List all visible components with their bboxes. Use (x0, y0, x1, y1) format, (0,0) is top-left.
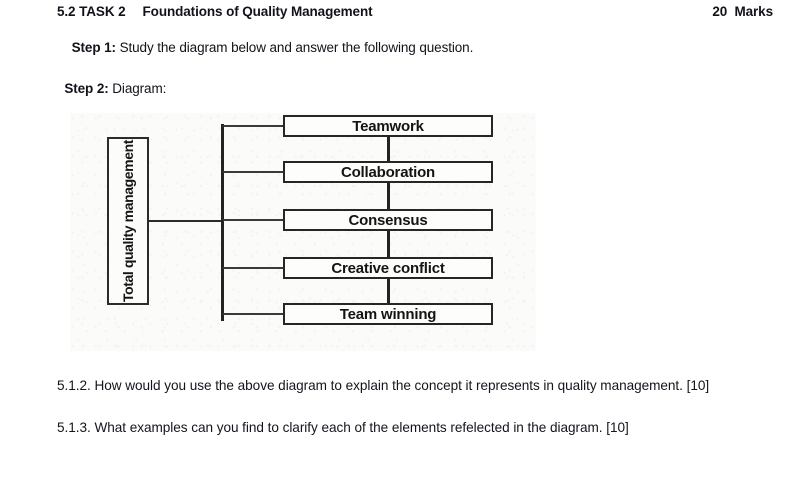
diagram-vlink-2-3 (387, 183, 390, 209)
diagram-node-label: Consensus (348, 213, 427, 228)
task-title: Foundations of Quality Management (143, 3, 373, 20)
step1-text: Study the diagram below and answer the f… (116, 40, 473, 55)
diagram-branch-2 (223, 171, 285, 173)
step1-label: Step 1: (72, 40, 116, 55)
question-5-1-2: 5.1.2. How would you use the above diagr… (57, 371, 773, 400)
diagram-node-label: Team winning (340, 307, 437, 322)
step2-label: Step 2: (64, 81, 108, 96)
diagram-node-team-winning: Team winning (283, 303, 493, 325)
diagram-spine (221, 124, 224, 321)
diagram-vlink-1-2 (387, 137, 390, 161)
diagram-branch-3 (223, 219, 285, 221)
diagram-node-collaboration: Collaboration (283, 161, 493, 183)
diagram-node-teamwork: Teamwork (283, 115, 493, 137)
diagram-image: Total quality management Teamwork Collab… (70, 113, 536, 351)
diagram-root-label: Total quality management (120, 140, 136, 302)
diagram-node-label: Teamwork (352, 119, 423, 134)
diagram-node-label: Creative conflict (331, 261, 444, 276)
step2-line: Step 2: Diagram: (57, 66, 166, 96)
task-heading-row: 5.2 TASK 2 Foundations of Quality Manage… (57, 3, 773, 20)
diagram-branch-4 (223, 267, 285, 269)
diagram-vlink-3-4 (387, 231, 390, 257)
task-marks: 20 Marks (712, 3, 773, 20)
diagram-branch-1 (223, 125, 285, 127)
diagram-root-box: Total quality management (107, 137, 149, 305)
step2-text: Diagram: (109, 81, 167, 96)
diagram-node-creative-conflict: Creative conflict (283, 257, 493, 279)
diagram-vlink-4-5 (387, 279, 390, 303)
worksheet-header: 5.2 TASK 2 Foundations of Quality Manage… (57, 3, 773, 75)
task-number: 5.2 TASK 2 (57, 3, 126, 20)
questions-block: 5.1.2. How would you use the above diagr… (57, 371, 773, 442)
diagram-root-stem (149, 220, 223, 222)
diagram-node-consensus: Consensus (283, 209, 493, 231)
diagram-branch-5 (223, 313, 285, 315)
question-5-1-3: 5.1.3. What examples can you find to cla… (57, 413, 773, 442)
diagram-node-label: Collaboration (341, 165, 435, 180)
